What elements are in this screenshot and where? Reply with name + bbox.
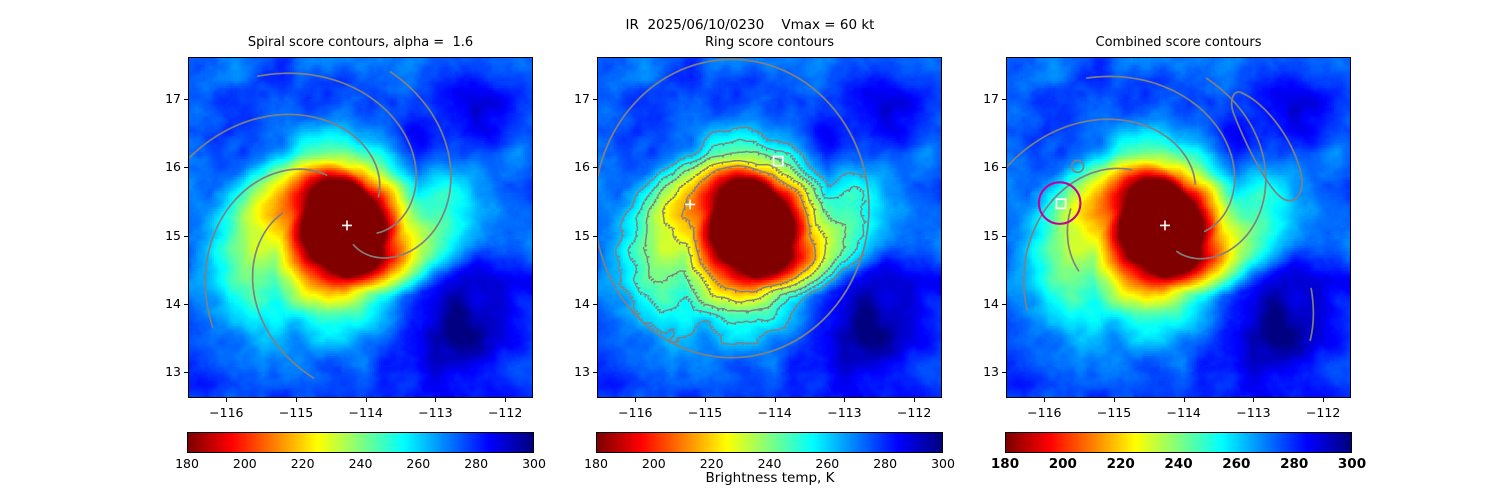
colorbar-tick-label: 220 [273, 456, 333, 471]
panel-title-ring: Ring score contours [597, 35, 942, 50]
combined-contour-se-arc [1310, 289, 1313, 341]
y-tickmark [1002, 236, 1006, 237]
x-tick-label: −116 [196, 405, 256, 420]
x-tick-label: −112 [884, 405, 944, 420]
y-tickmark [1002, 167, 1006, 168]
combined-contour-lobe [1232, 92, 1302, 201]
panel-title-spiral: Spiral score contours, alpha = 1.6 [188, 35, 533, 50]
contour-overlay [1007, 58, 1350, 397]
y-tick-label: 17 [140, 91, 181, 106]
x-tickmark [296, 398, 297, 402]
figure-canvas: IR 2025/06/10/0230 Vmax = 60 kt Spiral s… [0, 0, 1500, 500]
x-tick-label: −113 [405, 405, 465, 420]
colorbar-gradient [597, 433, 942, 452]
y-tickmark [1002, 99, 1006, 100]
colorbar-tick-label: 240 [331, 456, 391, 471]
x-tickmark [1114, 398, 1115, 402]
colorbar-tick-label: 200 [1033, 456, 1093, 472]
y-tickmark [1002, 304, 1006, 305]
x-tick-label: −116 [1014, 405, 1074, 420]
x-tick-label: −113 [814, 405, 874, 420]
y-tickmark [593, 372, 597, 373]
x-tickmark [635, 398, 636, 402]
y-tick-label: 13 [140, 364, 181, 379]
colorbar-spiral [187, 432, 534, 453]
colorbar-tick-label: 300 [504, 456, 564, 471]
y-tick-label: 16 [140, 159, 181, 174]
y-tick-label: 14 [140, 296, 181, 311]
colorbar-tick-label: 220 [682, 456, 742, 471]
y-tick-label: 16 [958, 159, 999, 174]
y-tickmark [593, 99, 597, 100]
colorbar-tick-label: 180 [157, 456, 217, 471]
y-tickmark [184, 304, 188, 305]
colorbar-tick-label: 200 [215, 456, 275, 471]
y-tickmark [184, 99, 188, 100]
colorbar-tick-label: 180 [975, 456, 1035, 472]
x-tick-label: −113 [1223, 405, 1283, 420]
y-tickmark [184, 372, 188, 373]
colorbar-ring [596, 432, 943, 453]
y-tickmark [593, 236, 597, 237]
y-tickmark [593, 304, 597, 305]
x-tick-label: −114 [745, 405, 805, 420]
spiral-contour-5 [253, 213, 314, 378]
combined-contour-2 [1087, 76, 1235, 231]
x-tick-label: −115 [266, 405, 326, 420]
y-tickmark [184, 236, 188, 237]
y-tick-label: 14 [549, 296, 590, 311]
panel-combined-score[interactable] [1006, 57, 1351, 398]
colorbar-tick-label: 260 [797, 456, 857, 471]
y-tick-label: 15 [140, 228, 181, 243]
colorbar-tick-label: 180 [566, 456, 626, 471]
y-tickmark [1002, 372, 1006, 373]
colorbar-gradient [188, 433, 533, 452]
colorbar-tick-label: 200 [624, 456, 684, 471]
x-tick-label: −112 [1293, 405, 1353, 420]
y-tick-label: 14 [958, 296, 999, 311]
x-tickmark [1253, 398, 1254, 402]
x-tickmark [914, 398, 915, 402]
combined-contour-1 [1177, 78, 1266, 258]
colorbar-tick-label: 220 [1091, 456, 1151, 472]
x-tickmark [226, 398, 227, 402]
x-tick-label: −112 [475, 405, 535, 420]
y-tick-label: 15 [958, 228, 999, 243]
y-tick-label: 17 [958, 91, 999, 106]
colorbar-tick-label: 280 [446, 456, 506, 471]
spiral-contour-1 [354, 72, 451, 258]
x-tickmark [775, 398, 776, 402]
y-tick-label: 13 [549, 364, 590, 379]
y-tickmark [184, 167, 188, 168]
panel-title-combined: Combined score contours [1006, 35, 1351, 50]
y-tick-label: 15 [549, 228, 590, 243]
colorbar-tick-label: 260 [1206, 456, 1266, 472]
best-ring-circle [1039, 182, 1081, 224]
combined-contour-4 [1024, 168, 1132, 309]
y-tick-label: 17 [549, 91, 590, 106]
x-tickmark [1323, 398, 1324, 402]
colorbar-combined [1005, 432, 1352, 453]
contour-overlay [189, 58, 532, 397]
y-tick-label: 13 [958, 364, 999, 379]
y-tickmark [593, 167, 597, 168]
storm-center-plus-marker [342, 220, 352, 230]
colorbar-tick-label: 280 [855, 456, 915, 471]
storm-center-plus-marker [1160, 220, 1170, 230]
colorbar-gradient [1006, 433, 1351, 452]
x-tickmark [435, 398, 436, 402]
x-tickmark [1184, 398, 1185, 402]
ring-inner-contour [1072, 160, 1084, 172]
spiral-contour-4 [205, 169, 326, 327]
x-tickmark [366, 398, 367, 402]
x-tick-label: −116 [605, 405, 665, 420]
figure-suptitle: IR 2025/06/10/0230 Vmax = 60 kt [0, 17, 1500, 33]
colorbar-tick-label: 300 [913, 456, 973, 471]
colorbar-tick-label: 240 [740, 456, 800, 471]
colorbar-tick-label: 280 [1264, 456, 1324, 472]
x-tickmark [844, 398, 845, 402]
spiral-contour-3 [189, 114, 380, 196]
colorbar-tick-label: 240 [1149, 456, 1209, 472]
x-tickmark [1044, 398, 1045, 402]
y-tick-label: 16 [549, 159, 590, 174]
spiral-contour-2 [258, 73, 416, 233]
ring-center-square-marker [1056, 199, 1065, 208]
colorbar-tick-label: 260 [388, 456, 448, 471]
contour-overlay [598, 58, 941, 397]
combined-contour-3 [1007, 119, 1195, 184]
panel-spiral-score[interactable] [188, 57, 533, 398]
x-tick-label: −114 [336, 405, 396, 420]
x-tickmark [705, 398, 706, 402]
panel-ring-score[interactable] [597, 57, 942, 398]
x-tickmark [505, 398, 506, 402]
x-tick-label: −114 [1154, 405, 1214, 420]
x-tick-label: −115 [675, 405, 735, 420]
colorbar-axis-label: Brightness temp, K [600, 470, 940, 486]
x-tick-label: −115 [1084, 405, 1144, 420]
colorbar-tick-label: 300 [1322, 456, 1382, 472]
